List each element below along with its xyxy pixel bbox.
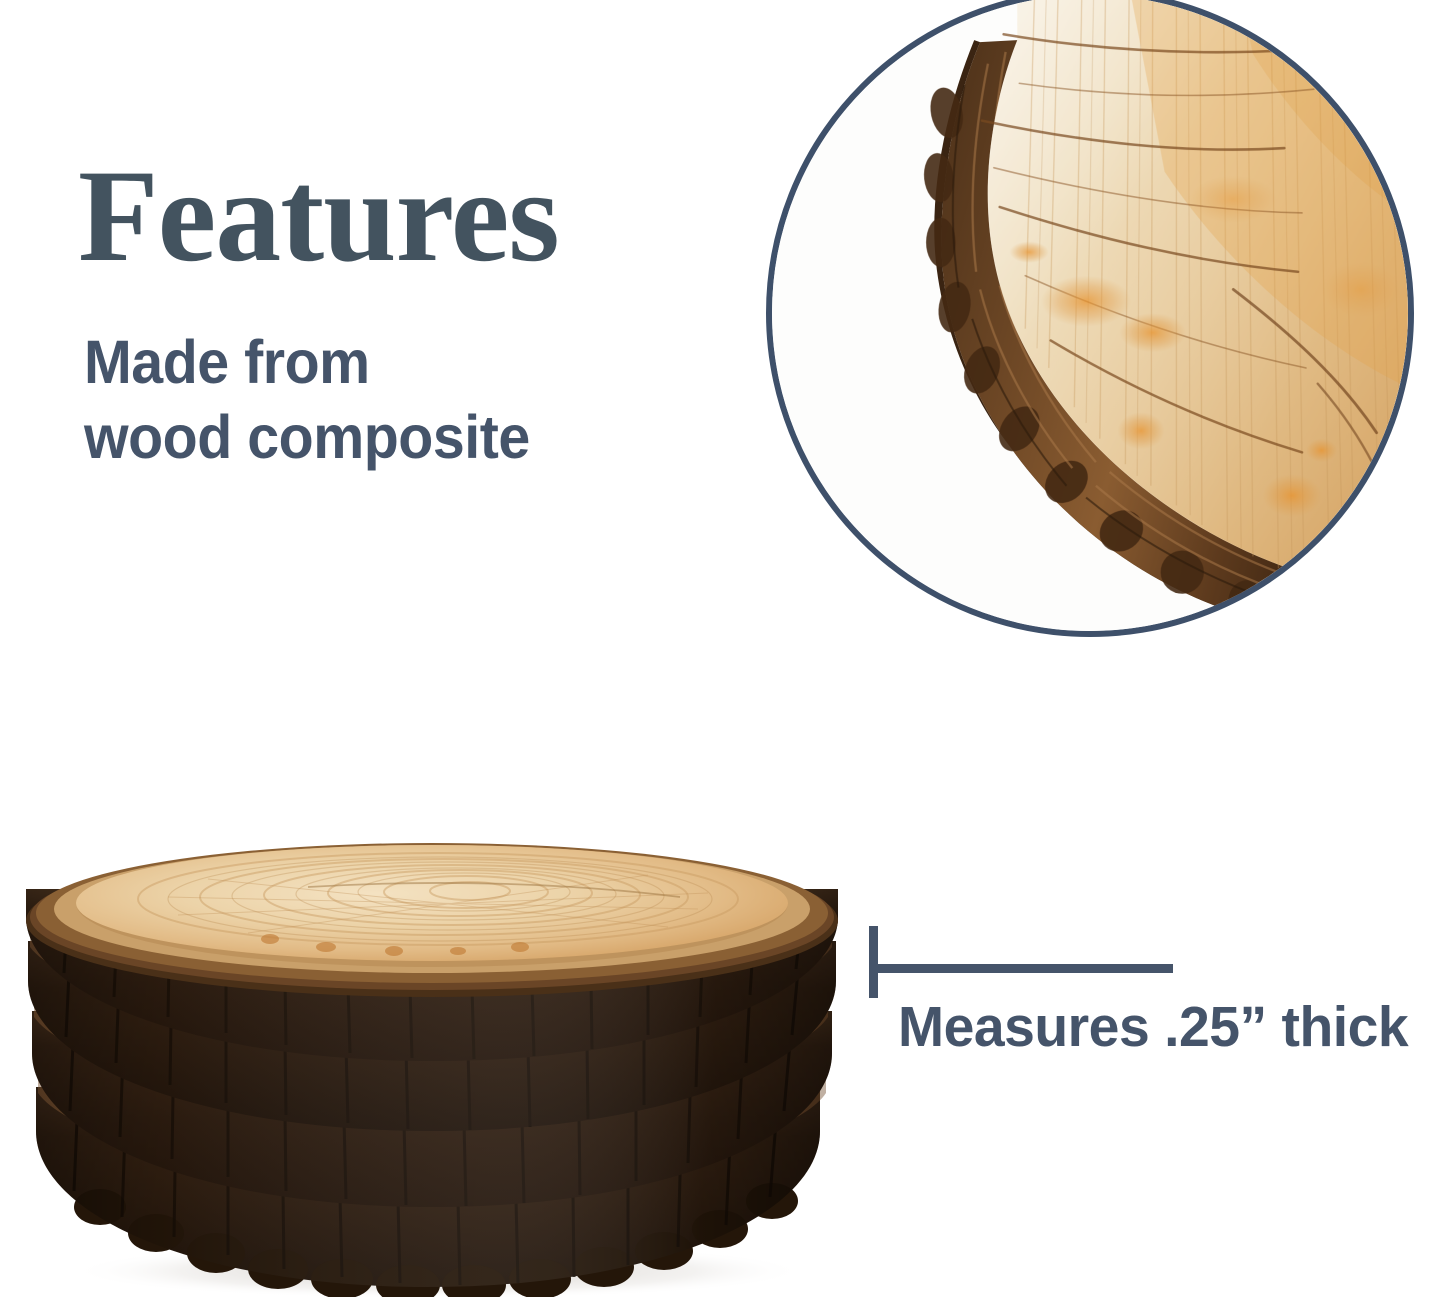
measurement-label: Measures .25” thick [898, 996, 1408, 1058]
feature-description-line-2: wood composite [84, 400, 530, 475]
stacked-wood-slices [8, 835, 858, 1297]
wood-slice-closeup-circle [766, 0, 1414, 637]
page-title: Features [78, 150, 559, 282]
dimension-rule-icon [874, 964, 1173, 973]
feature-description: Made from wood composite [84, 325, 530, 475]
measurement-callout: Measures .25” thick [869, 922, 1429, 1082]
feature-description-line-1: Made from [84, 325, 530, 400]
dimension-tick-icon [869, 926, 878, 998]
slice-top [26, 843, 838, 997]
infographic-stage: Features Made from wood composite Measur… [0, 0, 1445, 1297]
closeup-illustration [772, 0, 1408, 631]
stack-illustration [8, 835, 858, 1297]
